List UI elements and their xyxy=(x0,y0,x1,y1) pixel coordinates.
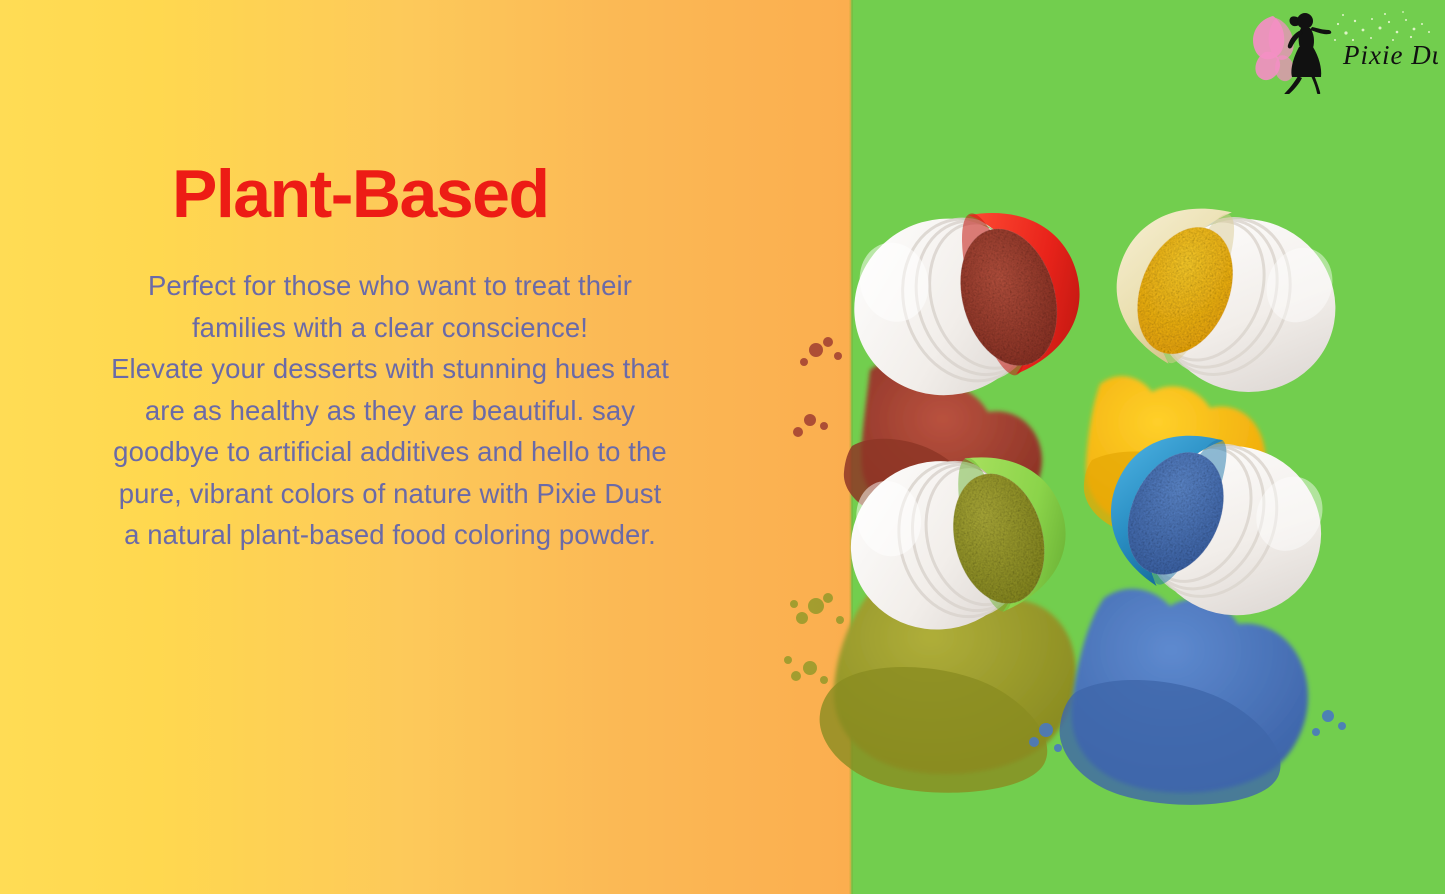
poster-canvas: Plant-Based Perfect for those who want t… xyxy=(0,0,1445,894)
product-photo xyxy=(780,120,1445,840)
blue-powder-spill xyxy=(1029,589,1346,805)
body-copy: Perfect for those who want to treat thei… xyxy=(110,265,670,556)
brand-wordmark: Pixie Dust xyxy=(1342,40,1438,70)
sparkle-trail xyxy=(1328,11,1431,41)
fairy-wings-icon xyxy=(1253,16,1294,81)
body-paragraph-1: Perfect for those who want to treat thei… xyxy=(110,265,670,348)
body-paragraph-2: Elevate your desserts with stunning hues… xyxy=(110,348,670,556)
page-title: Plant-Based xyxy=(172,160,549,228)
brand-logo[interactable]: Pixie Dust xyxy=(1243,2,1438,94)
